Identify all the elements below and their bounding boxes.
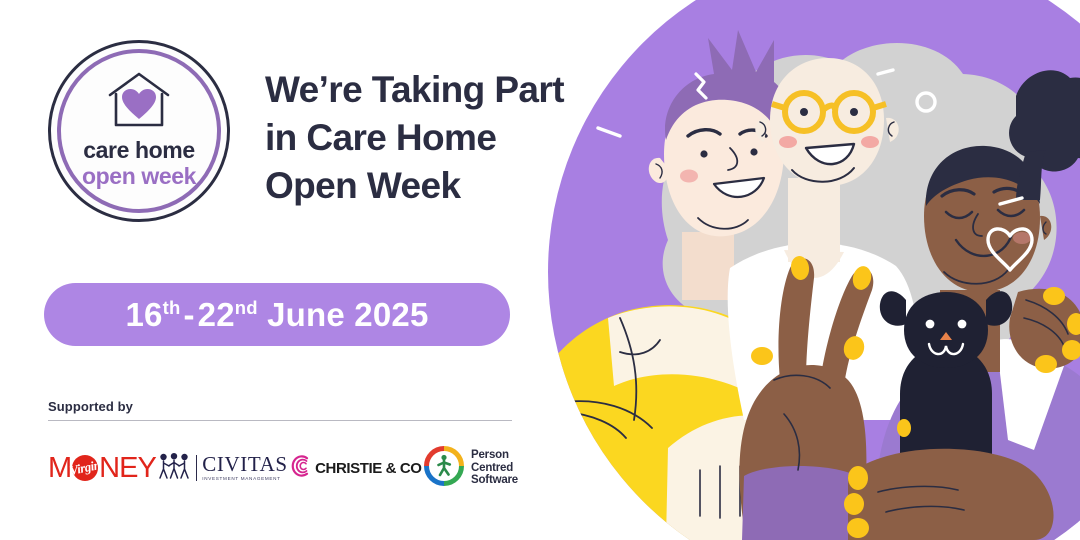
care-home-open-week-logo[interactable]: care home open week xyxy=(48,40,230,222)
sponsor-logo-row: M Virgin NEY xyxy=(48,440,518,496)
virgin-circle-icon: Virgin xyxy=(72,455,98,481)
care-home-open-week-banner: care home open week We’re Taking Part in… xyxy=(0,0,1080,540)
civitas-divider xyxy=(196,455,197,481)
date-separator: - xyxy=(180,296,197,333)
pcs-line-one: Person xyxy=(471,449,518,462)
date-day-start: 16 xyxy=(125,296,162,333)
virgin-money-text-after: NEY xyxy=(99,452,156,485)
page-title: We’re Taking Part in Care Home Open Week xyxy=(265,66,595,210)
pcs-line-two: Centred xyxy=(471,462,518,475)
three-people-icon xyxy=(157,452,191,485)
headline-line-one: We’re Taking Part xyxy=(265,66,595,114)
date-day-end: 22 xyxy=(198,296,235,333)
sponsor-virgin-money[interactable]: M Virgin NEY xyxy=(48,451,156,485)
spiral-c-icon xyxy=(289,455,309,482)
date-month-year: June 2025 xyxy=(267,296,428,333)
date-day-end-ordinal: nd xyxy=(235,297,258,318)
sponsor-christie-and-co[interactable]: CHRISTIE & CO xyxy=(289,455,421,482)
headline-line-two: in Care Home xyxy=(265,114,595,162)
civitas-title: CIVITAS xyxy=(202,454,287,475)
event-date-text: 16th-22nd June 2025 xyxy=(125,296,428,334)
event-date-badge: 16th-22nd June 2025 xyxy=(44,283,510,346)
date-day-start-ordinal: th xyxy=(163,297,181,318)
civitas-subtitle: INVESTMENT MANAGEMENT xyxy=(202,477,287,482)
logo-line-one: care home xyxy=(51,138,227,164)
logo-wordmark: care home open week xyxy=(51,138,227,190)
supported-by-divider xyxy=(48,420,512,421)
headline-line-three: Open Week xyxy=(265,162,595,210)
sponsor-person-centred-software[interactable]: Person Centred Software xyxy=(423,445,518,492)
virgin-circle-label: Virgin xyxy=(68,457,102,479)
logo-line-two: open week xyxy=(51,164,227,190)
three-people-group-hug-illustration xyxy=(548,0,1080,540)
house-with-heart-icon xyxy=(102,69,176,136)
pcs-line-three: Software xyxy=(471,474,518,487)
christie-and-co-title: CHRISTIE & CO xyxy=(315,460,421,477)
supported-by-label: Supported by xyxy=(48,399,133,414)
virgin-money-text-before: M xyxy=(48,452,71,485)
colored-ring-runner-icon xyxy=(423,445,465,492)
sponsor-civitas[interactable]: CIVITAS INVESTMENT MANAGEMENT xyxy=(157,452,287,485)
